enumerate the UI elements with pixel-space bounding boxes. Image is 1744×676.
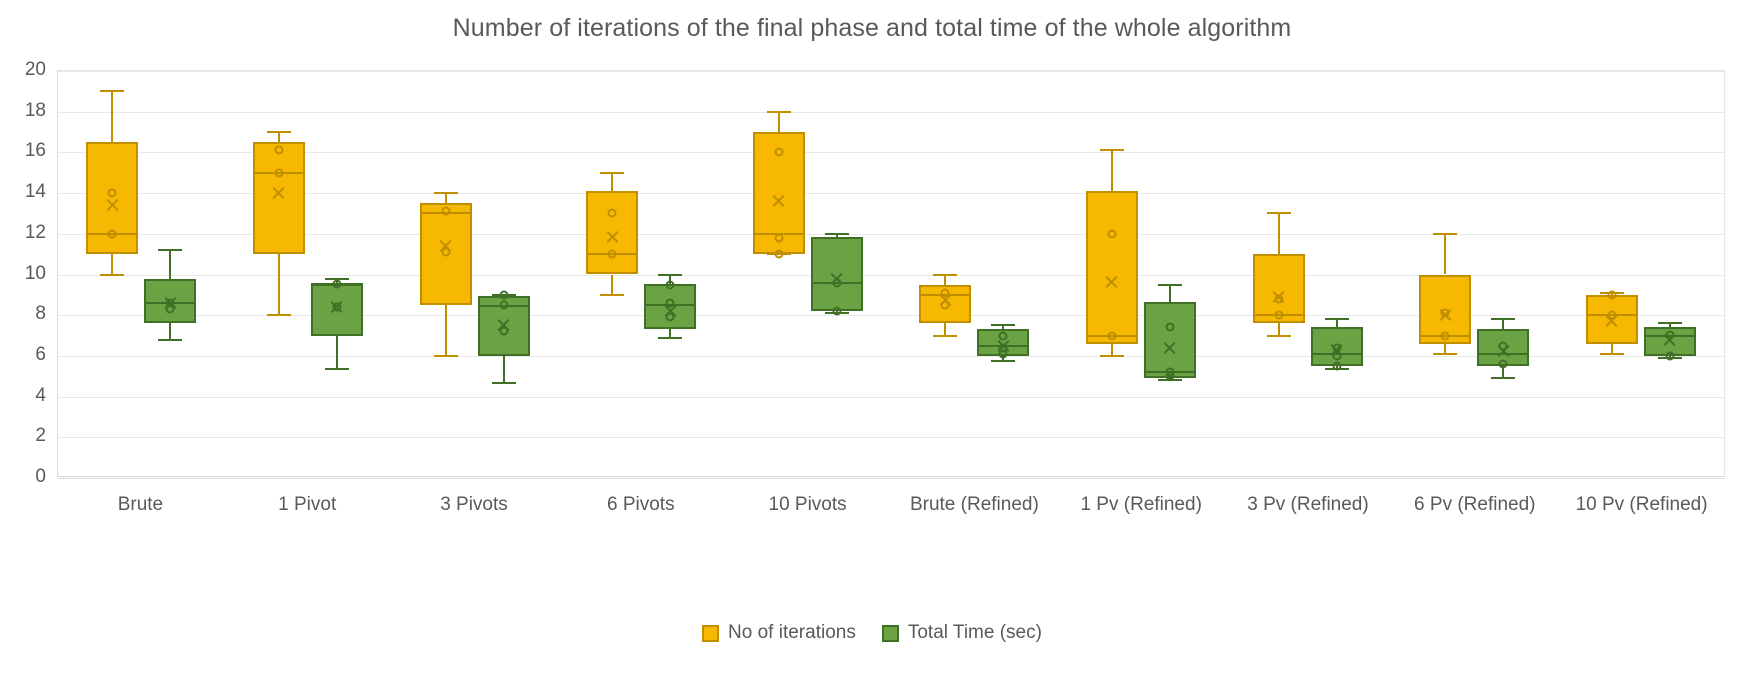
gridline <box>58 112 1724 113</box>
y-tick-label: 8 <box>0 303 46 325</box>
data-point <box>774 250 783 259</box>
whisker-lower <box>503 356 505 383</box>
cap-lower <box>933 335 957 337</box>
x-tick-label: 1 Pv (Refined) <box>1058 488 1225 522</box>
data-point <box>608 250 617 259</box>
mean-marker-icon <box>605 229 620 244</box>
whisker-upper <box>1111 150 1113 191</box>
cap-lower <box>434 355 458 357</box>
cap-upper <box>1267 212 1291 214</box>
data-point <box>1274 311 1283 320</box>
mean-marker-icon <box>771 194 786 209</box>
gridline <box>58 71 1724 72</box>
whisker-upper <box>111 91 113 142</box>
data-point <box>774 148 783 157</box>
data-point <box>1165 372 1174 381</box>
mean-marker-icon <box>1496 343 1511 358</box>
box <box>1086 191 1138 344</box>
cap-lower <box>1433 353 1457 355</box>
gridline <box>58 437 1724 438</box>
x-tick-label: 3 Pivots <box>391 488 558 522</box>
mean-marker-icon <box>1271 289 1286 304</box>
y-tick-label: 16 <box>0 140 46 162</box>
data-point <box>332 279 341 288</box>
box-plot-chart: Number of iterations of the final phase … <box>0 0 1744 676</box>
cap-upper <box>1658 322 1682 324</box>
cap-upper <box>100 90 124 92</box>
cap-upper <box>267 131 291 133</box>
legend-item[interactable]: No of iterations <box>702 622 856 644</box>
data-point <box>1665 351 1674 360</box>
data-point <box>774 233 783 242</box>
cap-lower <box>1491 377 1515 379</box>
data-point <box>274 168 283 177</box>
data-point <box>499 301 508 310</box>
cap-upper <box>1158 284 1182 286</box>
cap-lower <box>991 360 1015 362</box>
mean-marker-icon <box>1162 340 1177 355</box>
cap-upper <box>1433 233 1457 235</box>
data-point <box>1107 331 1116 340</box>
data-point <box>1332 362 1341 371</box>
cap-upper <box>1325 318 1349 320</box>
x-tick-label: 6 Pv (Refined) <box>1391 488 1558 522</box>
y-tick-label: 4 <box>0 385 46 407</box>
cap-lower <box>600 294 624 296</box>
data-point <box>832 307 841 316</box>
x-tick-label: 10 Pv (Refined) <box>1558 488 1725 522</box>
legend-item[interactable]: Total Time (sec) <box>882 622 1042 644</box>
whisker-lower <box>611 275 613 295</box>
cap-lower <box>267 314 291 316</box>
whisker-upper <box>611 173 613 191</box>
legend-label: No of iterations <box>728 622 856 644</box>
whisker-upper <box>1444 234 1446 275</box>
cap-lower <box>1100 355 1124 357</box>
cap-upper <box>1491 318 1515 320</box>
cap-upper <box>933 274 957 276</box>
y-tick-label: 0 <box>0 466 46 488</box>
data-point <box>441 207 450 216</box>
cap-lower <box>325 368 349 370</box>
cap-upper <box>158 249 182 251</box>
data-point <box>1499 360 1508 369</box>
data-point <box>666 280 675 289</box>
gridline <box>58 152 1724 153</box>
mean-marker-icon <box>438 239 453 254</box>
y-axis: 20181614121086420 <box>0 70 46 477</box>
x-tick-label: 10 Pivots <box>724 488 891 522</box>
whisker-lower <box>278 254 280 315</box>
x-tick-label: 6 Pivots <box>557 488 724 522</box>
cap-lower <box>1600 353 1624 355</box>
whisker-lower <box>445 305 447 356</box>
x-tick-label: Brute <box>57 488 224 522</box>
mean-marker-icon <box>105 198 120 213</box>
data-point <box>274 146 283 155</box>
x-tick-label: 3 Pv (Refined) <box>1225 488 1392 522</box>
gridline <box>58 234 1724 235</box>
gridline <box>58 397 1724 398</box>
x-axis: Brute1 Pivot3 Pivots6 Pivots10 PivotsBru… <box>57 488 1725 522</box>
data-point <box>1441 331 1450 340</box>
legend-swatch-icon <box>882 625 899 642</box>
legend-swatch-icon <box>702 625 719 642</box>
chart-title: Number of iterations of the final phase … <box>0 14 1744 43</box>
data-point <box>1607 290 1616 299</box>
mean-marker-icon <box>271 186 286 201</box>
data-point <box>499 290 508 299</box>
mean-marker-icon <box>996 338 1011 353</box>
legend-label: Total Time (sec) <box>908 622 1042 644</box>
data-point <box>108 189 117 198</box>
y-tick-label: 6 <box>0 344 46 366</box>
mean-marker-icon <box>663 304 678 319</box>
whisker-lower <box>336 336 338 370</box>
whisker-lower <box>169 323 171 339</box>
cap-upper <box>434 192 458 194</box>
mean-marker-icon <box>496 318 511 333</box>
whisker-upper <box>1169 285 1171 302</box>
cap-upper <box>1100 149 1124 151</box>
cap-upper <box>658 274 682 276</box>
whisker-lower <box>111 254 113 274</box>
gridline <box>58 315 1724 316</box>
chart-legend: No of iterationsTotal Time (sec) <box>0 622 1744 644</box>
y-tick-label: 18 <box>0 100 46 122</box>
y-tick-label: 14 <box>0 181 46 203</box>
x-tick-label: 1 Pivot <box>224 488 391 522</box>
plot-area <box>57 70 1725 477</box>
cap-upper <box>767 111 791 113</box>
whisker-upper <box>944 275 946 285</box>
mean-marker-icon <box>1604 314 1619 329</box>
mean-marker-icon <box>329 300 344 315</box>
whisker-upper <box>445 193 447 203</box>
mean-marker-icon <box>938 292 953 307</box>
cap-lower <box>492 382 516 384</box>
cap-lower <box>1267 335 1291 337</box>
y-tick-label: 20 <box>0 59 46 81</box>
whisker-upper <box>1336 319 1338 327</box>
x-tick-label: Brute (Refined) <box>891 488 1058 522</box>
mean-marker-icon <box>1329 342 1344 357</box>
whisker-upper <box>1278 213 1280 254</box>
cap-upper <box>991 324 1015 326</box>
whisker-upper <box>169 250 171 278</box>
cap-lower <box>658 337 682 339</box>
mean-marker-icon <box>1662 332 1677 347</box>
cap-upper <box>825 233 849 235</box>
gridline <box>58 275 1724 276</box>
data-point <box>608 209 617 218</box>
whisker-upper <box>778 112 780 132</box>
mean-marker-icon <box>1438 308 1453 323</box>
whisker-upper <box>1502 319 1504 329</box>
cap-lower <box>158 339 182 341</box>
mean-marker-icon <box>1104 274 1119 289</box>
y-tick-label: 12 <box>0 222 46 244</box>
whisker-upper <box>278 132 280 142</box>
y-tick-label: 10 <box>0 263 46 285</box>
data-point <box>108 229 117 238</box>
gridline <box>58 478 1724 479</box>
gridline <box>58 193 1724 194</box>
mean-marker-icon <box>829 271 844 286</box>
data-point <box>1107 229 1116 238</box>
mean-marker-icon <box>163 295 178 310</box>
data-point <box>1165 323 1174 332</box>
cap-lower <box>100 274 124 276</box>
y-tick-label: 2 <box>0 425 46 447</box>
cap-upper <box>600 172 624 174</box>
gridline <box>58 356 1724 357</box>
